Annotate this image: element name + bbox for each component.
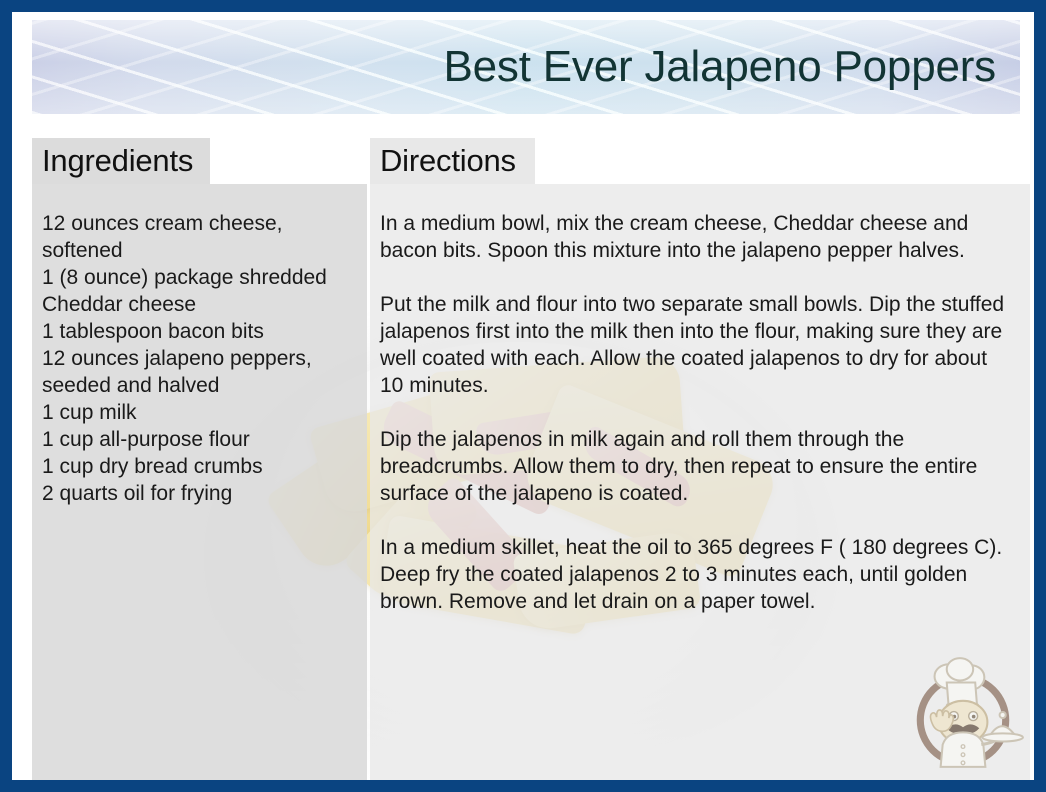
title-banner: Best Ever Jalapeno Poppers: [32, 20, 1020, 114]
list-item: 2 quarts oil for frying: [42, 480, 351, 507]
tab-directions[interactable]: Directions: [370, 138, 535, 184]
list-item: 12 ounces jalapeno peppers, seeded and h…: [42, 345, 351, 399]
ingredients-panel: 12 ounces cream cheese, softened 1 (8 ou…: [32, 184, 367, 780]
direction-step: In a medium bowl, mix the cream cheese, …: [380, 210, 1014, 264]
list-item: 1 cup all-purpose flour: [42, 426, 351, 453]
list-item: 1 cup milk: [42, 399, 351, 426]
direction-step: Put the milk and flour into two separate…: [380, 291, 1014, 399]
page-title: Best Ever Jalapeno Poppers: [444, 42, 1020, 92]
tab-directions-label: Directions: [380, 143, 516, 179]
recipe-card: Best Ever Jalapeno Poppers Ingredients D…: [0, 0, 1046, 792]
direction-step: Dip the jalapenos in milk again and roll…: [380, 426, 1014, 507]
chef-logo-icon: [902, 650, 1024, 774]
list-item: 1 cup dry bread crumbs: [42, 453, 351, 480]
list-item: 12 ounces cream cheese, softened: [42, 210, 351, 264]
tab-ingredients-label: Ingredients: [42, 143, 193, 179]
chef-logo: [902, 650, 1024, 774]
direction-step: In a medium skillet, heat the oil to 365…: [380, 534, 1014, 615]
tab-ingredients[interactable]: Ingredients: [32, 138, 210, 184]
list-item: 1 (8 ounce) package shredded Cheddar che…: [42, 264, 351, 318]
card-inner-area: Best Ever Jalapeno Poppers Ingredients D…: [12, 12, 1034, 780]
list-item: 1 tablespoon bacon bits: [42, 318, 351, 345]
